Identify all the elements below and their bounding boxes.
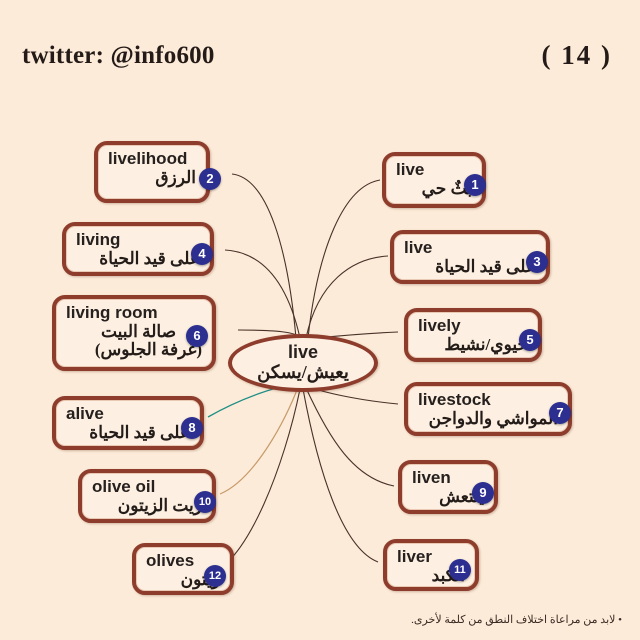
node-livelihood[interactable]: livelihood الرزق 2: [94, 141, 210, 203]
node-arabic: حيوي/نشيط: [418, 335, 528, 355]
node-badge-8: 8: [181, 417, 203, 439]
node-english: living: [76, 230, 200, 249]
node-badge-9: 9: [472, 482, 494, 504]
connector-to-node-4: [225, 250, 300, 338]
node-olives[interactable]: olives زيتون 12: [132, 543, 234, 595]
node-liver[interactable]: liver الكبد 11: [383, 539, 479, 591]
node-livestock[interactable]: livestock المواشي والدواجن 7: [404, 382, 572, 436]
footnote: • لابد من مراعاة اختلاف النطق من كلمة لأ…: [411, 613, 622, 626]
node-english: livelihood: [108, 149, 196, 168]
center-english: live: [288, 343, 318, 362]
node-english: living room: [66, 303, 202, 322]
node-badge-4: 4: [191, 243, 213, 265]
node-olive-oil[interactable]: olive oil زيت الزيتون 10: [78, 469, 216, 523]
node-arabic: المواشي والدواجن: [418, 409, 558, 429]
connector-to-node-12: [216, 389, 300, 570]
node-liven[interactable]: liven ينتعش 9: [398, 460, 498, 514]
center-node-live[interactable]: live يعيش/يسكن: [228, 334, 378, 392]
connector-to-node-10: [220, 387, 298, 494]
node-badge-1: 1: [464, 174, 486, 196]
node-english: live: [396, 160, 472, 179]
node-badge-7: 7: [549, 402, 571, 424]
node-english: olive oil: [92, 477, 202, 496]
node-live-alive[interactable]: live على قيد الحياة 3: [390, 230, 550, 284]
node-badge-6: 6: [186, 325, 208, 347]
node-arabic: على قيد الحياة: [76, 249, 200, 269]
connector-to-node-2: [232, 174, 296, 338]
node-english: live: [404, 238, 536, 257]
connector-to-node-3: [306, 256, 388, 338]
connector-to-node-11: [303, 389, 378, 562]
node-english: liven: [412, 468, 484, 487]
node-arabic-secondary: (غرفة الجلوس): [66, 340, 202, 360]
node-alive[interactable]: alive على قيد الحياة 8: [52, 396, 204, 450]
node-badge-3: 3: [526, 251, 548, 273]
node-arabic: بثٌ حي: [396, 179, 472, 199]
node-living[interactable]: living على قيد الحياة 4: [62, 222, 214, 276]
node-english: lively: [418, 316, 528, 335]
node-living-room[interactable]: living room صالة البيت (غرفة الجلوس) 6: [52, 295, 216, 371]
node-arabic: زيت الزيتون: [92, 496, 202, 516]
node-badge-12: 12: [204, 565, 226, 587]
node-badge-5: 5: [519, 329, 541, 351]
node-badge-2: 2: [199, 168, 221, 190]
node-arabic: على قيد الحياة: [404, 257, 536, 277]
node-badge-11: 11: [449, 559, 471, 581]
node-live-broadcast[interactable]: live بثٌ حي 1: [382, 152, 486, 208]
node-arabic: على قيد الحياة: [66, 423, 190, 443]
node-english: livestock: [418, 390, 558, 409]
mindmap-page: twitter: @info600 ( 14 ) livelihood الرز…: [0, 0, 640, 640]
node-arabic: صالة البيت: [66, 322, 202, 342]
node-arabic: الرزق: [108, 168, 196, 188]
node-lively[interactable]: lively حيوي/نشيط 5: [404, 308, 542, 362]
connector-to-node-9: [306, 388, 394, 486]
node-badge-10: 10: [194, 491, 216, 513]
node-english: alive: [66, 404, 190, 423]
center-arabic: يعيش/يسكن: [257, 362, 349, 383]
